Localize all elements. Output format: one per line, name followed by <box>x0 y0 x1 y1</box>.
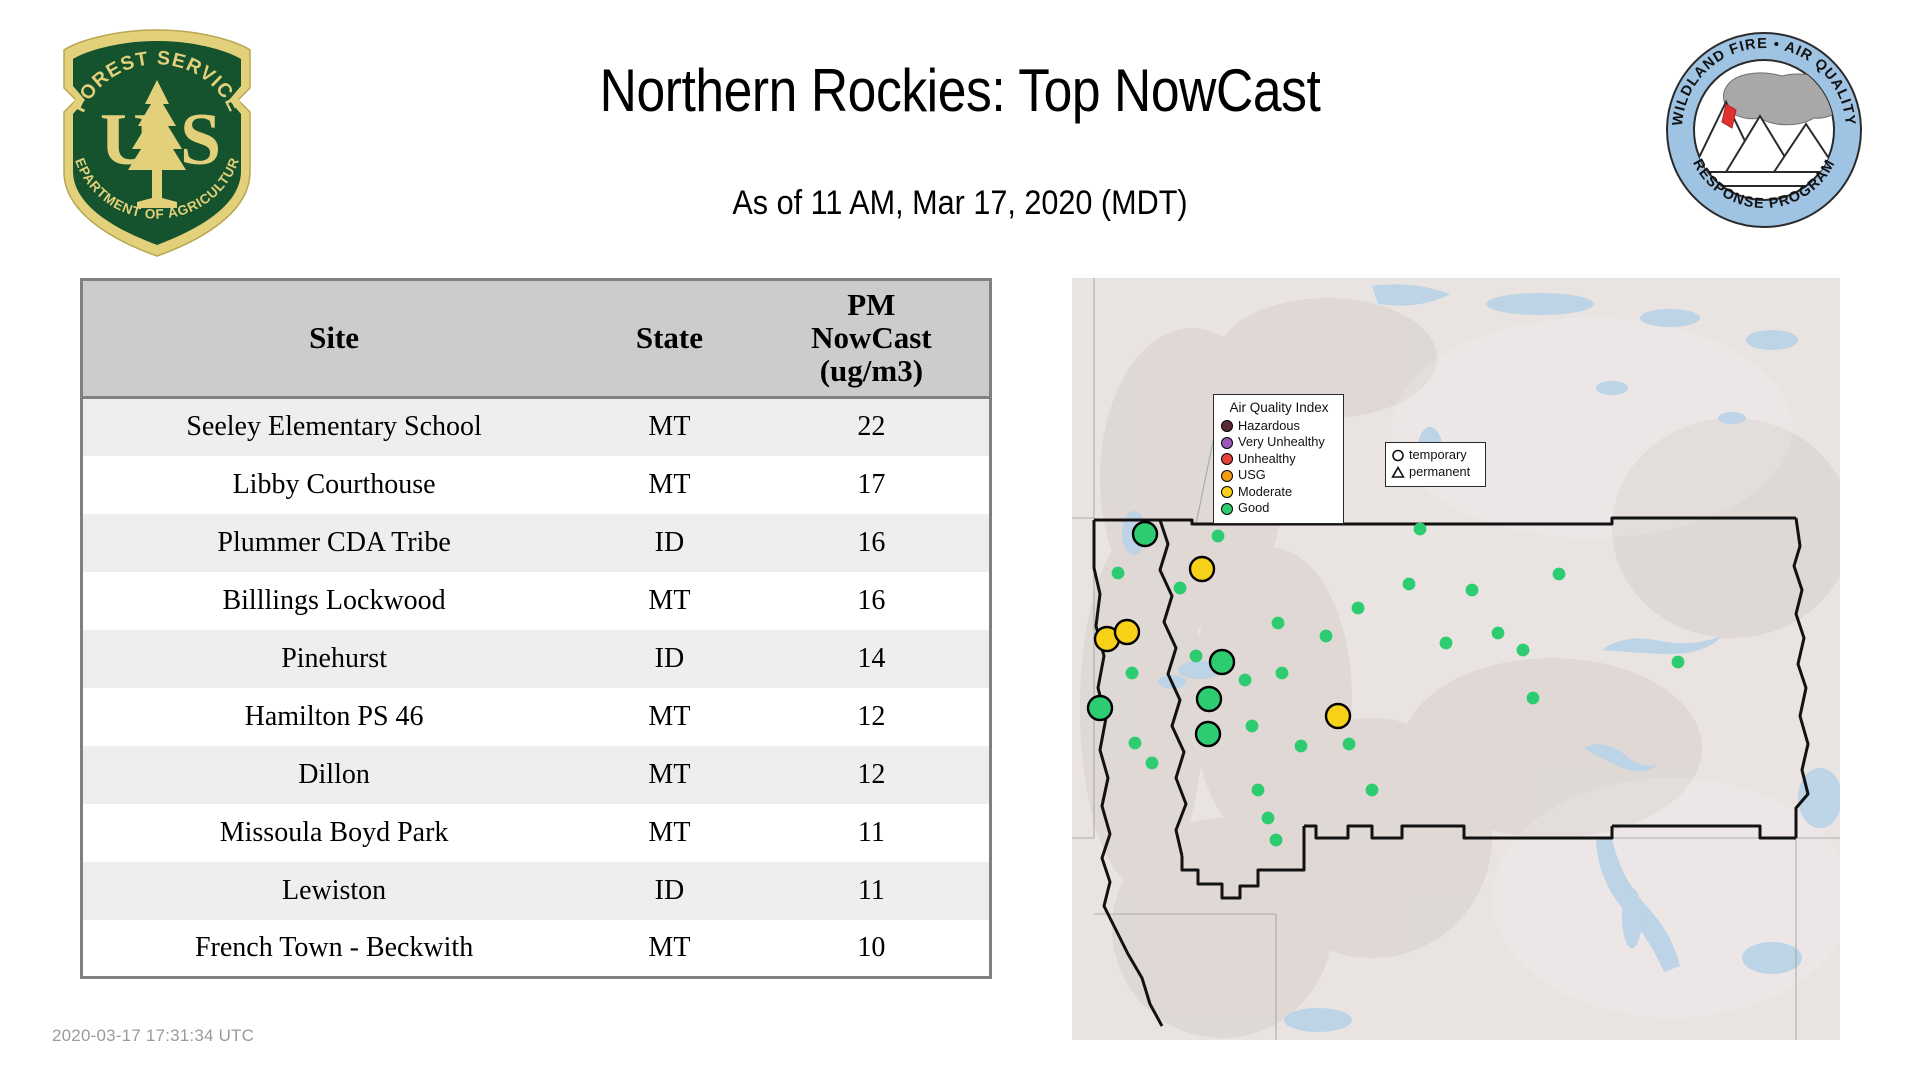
aqi-legend-rows: HazardousVery UnhealthyUnhealthyUSGModer… <box>1221 418 1337 517</box>
monitor-marker[interactable] <box>1190 557 1214 581</box>
cell-state: MT <box>585 572 754 630</box>
nowcast-table: Site State PM NowCast (ug/m3) Seeley Ele… <box>80 278 992 979</box>
aqi-legend-label: Moderate <box>1238 486 1292 499</box>
cell-value: 16 <box>754 572 991 630</box>
cell-value: 11 <box>754 804 991 862</box>
monitor-marker[interactable] <box>1517 644 1530 657</box>
cell-site: Lewiston <box>82 862 586 920</box>
page-subtitle: As of 11 AM, Mar 17, 2020 (MDT) <box>366 184 1554 223</box>
monitor-marker[interactable] <box>1197 687 1221 711</box>
monitor-marker[interactable] <box>1527 692 1540 705</box>
column-header-site[interactable]: Site <box>82 280 586 398</box>
table-row[interactable]: Billlings LockwoodMT16 <box>82 572 991 630</box>
legend-label-temporary: temporary <box>1409 449 1467 462</box>
aqi-legend-label: Good <box>1238 502 1269 515</box>
cell-state: ID <box>585 514 754 572</box>
cell-value: 10 <box>754 920 991 978</box>
table-row[interactable]: French Town - BeckwithMT10 <box>82 920 991 978</box>
svg-text:S: S <box>180 99 221 181</box>
aqi-legend-item: Moderate <box>1221 484 1337 501</box>
aqi-swatch-icon <box>1221 453 1233 465</box>
table-header: Site State PM NowCast (ug/m3) <box>82 280 991 398</box>
monitor-marker[interactable] <box>1126 667 1139 680</box>
table-row[interactable]: LewistonID11 <box>82 862 991 920</box>
table-header-row: Site State PM NowCast (ug/m3) <box>82 280 991 398</box>
monitor-marker[interactable] <box>1553 568 1566 581</box>
cell-site: Seeley Elementary School <box>82 398 586 456</box>
monitor-marker[interactable] <box>1343 738 1356 751</box>
monitor-marker[interactable] <box>1366 784 1379 797</box>
monitor-marker[interactable] <box>1115 620 1139 644</box>
monitor-marker[interactable] <box>1270 834 1283 847</box>
column-header-line-3: (ug/m3) <box>760 355 983 388</box>
aqi-legend-item: Unhealthy <box>1221 451 1337 468</box>
table-row[interactable]: Plummer CDA TribeID16 <box>82 514 991 572</box>
cell-state: ID <box>585 862 754 920</box>
monitor-marker[interactable] <box>1246 720 1259 733</box>
monitor-marker[interactable] <box>1403 578 1416 591</box>
monitor-marker[interactable] <box>1190 650 1203 663</box>
monitor-marker[interactable] <box>1146 757 1159 770</box>
aqi-legend-title: Air Quality Index <box>1221 400 1337 415</box>
cell-site: Pinehurst <box>82 630 586 688</box>
monitor-marker[interactable] <box>1414 523 1427 536</box>
aqi-legend: Air Quality Index HazardousVery Unhealth… <box>1213 394 1344 524</box>
aqi-legend-item: Very Unhealthy <box>1221 435 1337 452</box>
nowcast-table-container: Site State PM NowCast (ug/m3) Seeley Ele… <box>80 278 992 979</box>
table-row[interactable]: Hamilton PS 46MT12 <box>82 688 991 746</box>
cell-value: 14 <box>754 630 991 688</box>
aqi-swatch-icon <box>1221 420 1233 432</box>
cell-state: MT <box>585 804 754 862</box>
aqi-legend-item: USG <box>1221 468 1337 485</box>
temporary-circle-icon <box>1391 448 1405 463</box>
cell-site: Libby Courthouse <box>82 456 586 514</box>
aqi-swatch-icon <box>1221 503 1233 515</box>
legend-row-temporary: temporary <box>1391 447 1480 464</box>
column-header-line-1: PM <box>760 289 983 322</box>
cell-state: MT <box>585 746 754 804</box>
monitor-marker[interactable] <box>1352 602 1365 615</box>
aqi-swatch-icon <box>1221 437 1233 449</box>
cell-site: Billlings Lockwood <box>82 572 586 630</box>
monitor-marker[interactable] <box>1196 722 1220 746</box>
table-body: Seeley Elementary SchoolMT22Libby Courth… <box>82 398 991 978</box>
aqi-swatch-icon <box>1221 486 1233 498</box>
wfaqrp-logo: WILDLAND FIRE • AIR QUALITY RESPONSE PRO… <box>1664 30 1864 230</box>
cell-state: MT <box>585 398 754 456</box>
cell-state: MT <box>585 920 754 978</box>
monitor-marker[interactable] <box>1129 737 1142 750</box>
monitor-marker[interactable] <box>1276 667 1289 680</box>
cell-site: Missoula Boyd Park <box>82 804 586 862</box>
legend-row-permanent: permanent <box>1391 464 1480 481</box>
table-row[interactable]: DillonMT12 <box>82 746 991 804</box>
monitor-marker[interactable] <box>1326 704 1350 728</box>
generated-timestamp: 2020-03-17 17:31:34 UTC <box>52 1026 254 1046</box>
monitor-marker[interactable] <box>1210 650 1234 674</box>
monitor-marker[interactable] <box>1492 627 1505 640</box>
monitor-marker[interactable] <box>1466 584 1479 597</box>
monitor-marker[interactable] <box>1672 656 1685 669</box>
table-row[interactable]: PinehurstID14 <box>82 630 991 688</box>
aqi-legend-label: Very Unhealthy <box>1238 436 1325 449</box>
aqi-map[interactable]: Air Quality Index HazardousVery Unhealth… <box>1072 278 1840 1040</box>
monitor-type-legend: temporary permanent <box>1385 442 1486 487</box>
cell-value: 16 <box>754 514 991 572</box>
cell-value: 22 <box>754 398 991 456</box>
slide-root: U S FOREST SERVICE DEPARTMENT OF AGRICUL… <box>0 0 1920 1080</box>
aqi-swatch-icon <box>1221 470 1233 482</box>
column-header-state[interactable]: State <box>585 280 754 398</box>
monitor-marker[interactable] <box>1320 630 1333 643</box>
cell-site: Dillon <box>82 746 586 804</box>
monitor-marker[interactable] <box>1112 567 1125 580</box>
monitor-marker[interactable] <box>1440 637 1453 650</box>
table-row[interactable]: Libby CourthouseMT17 <box>82 456 991 514</box>
legend-label-permanent: permanent <box>1409 466 1470 479</box>
aqi-legend-label: USG <box>1238 469 1266 482</box>
monitor-marker[interactable] <box>1239 674 1252 687</box>
cell-site: French Town - Beckwith <box>82 920 586 978</box>
cell-state: MT <box>585 688 754 746</box>
monitor-marker[interactable] <box>1262 812 1275 825</box>
usfs-shield-logo: U S FOREST SERVICE DEPARTMENT OF AGRICUL… <box>52 22 262 262</box>
aqi-legend-label: Unhealthy <box>1238 453 1296 466</box>
cell-state: ID <box>585 630 754 688</box>
column-header-line-2: NowCast <box>760 322 983 355</box>
cell-state: MT <box>585 456 754 514</box>
table-row[interactable]: Missoula Boyd ParkMT11 <box>82 804 991 862</box>
monitor-marker[interactable] <box>1295 740 1308 753</box>
monitor-marker[interactable] <box>1252 784 1265 797</box>
cell-value: 11 <box>754 862 991 920</box>
cell-value: 17 <box>754 456 991 514</box>
cell-value: 12 <box>754 746 991 804</box>
monitor-marker[interactable] <box>1272 617 1285 630</box>
cell-site: Hamilton PS 46 <box>82 688 586 746</box>
monitor-marker[interactable] <box>1088 696 1112 720</box>
aqi-legend-item: Good <box>1221 501 1337 518</box>
monitor-marker[interactable] <box>1174 582 1187 595</box>
table-row[interactable]: Seeley Elementary SchoolMT22 <box>82 398 991 456</box>
aqi-legend-label: Hazardous <box>1238 420 1300 433</box>
cell-site: Plummer CDA Tribe <box>82 514 586 572</box>
aqi-legend-item: Hazardous <box>1221 418 1337 435</box>
permanent-triangle-icon <box>1391 465 1405 480</box>
cell-value: 12 <box>754 688 991 746</box>
map-canvas <box>1072 278 1840 1040</box>
monitor-marker[interactable] <box>1133 522 1157 546</box>
page-title: Northern Rockies: Top NowCast <box>392 56 1527 125</box>
column-header-pm-nowcast[interactable]: PM NowCast (ug/m3) <box>754 280 991 398</box>
monitor-marker[interactable] <box>1212 530 1225 543</box>
